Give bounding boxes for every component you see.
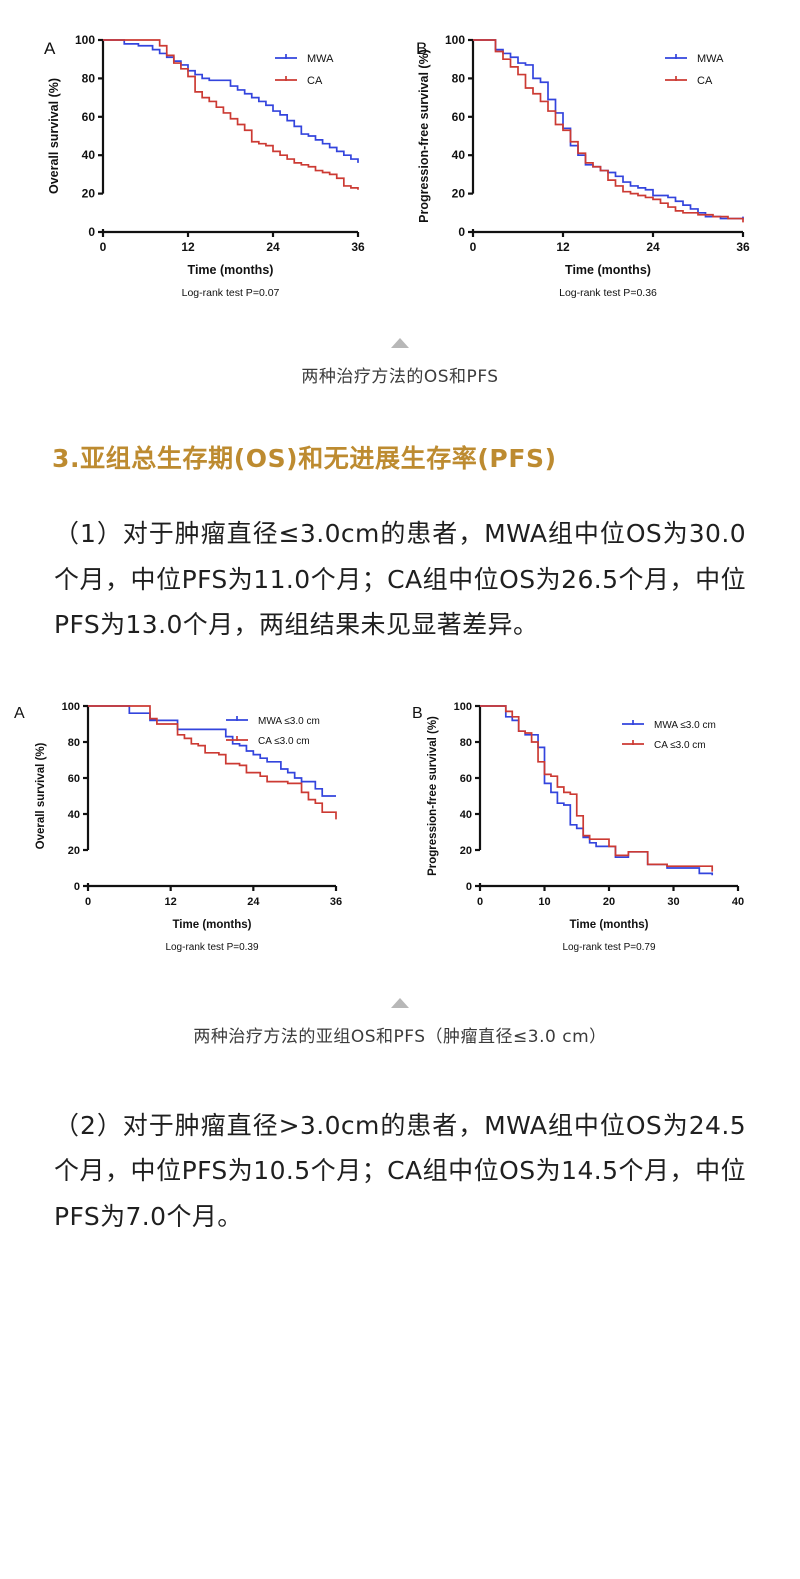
svg-text:40: 40	[460, 809, 472, 821]
figure-1-caption-wrap: 两种治疗方法的OS和PFS	[0, 338, 800, 387]
svg-text:100: 100	[62, 701, 80, 713]
figure-2-panels: A0204060801000122436Overall survival (%)…	[0, 688, 800, 968]
svg-text:20: 20	[68, 845, 80, 857]
paragraph-2: （2）对于肿瘤直径>3.0cm的患者，MWA组中位OS为24.5个月，中位PFS…	[54, 1103, 746, 1240]
figure-1-panels: A0204060801000122436Overall survival (%)…	[0, 18, 800, 308]
svg-text:Overall survival (%): Overall survival (%)	[47, 78, 61, 194]
svg-text:40: 40	[68, 809, 80, 821]
svg-text:80: 80	[82, 71, 96, 85]
svg-text:80: 80	[460, 737, 472, 749]
km-plot-fig1-b: B0204060801000122436Progression-free sur…	[400, 18, 800, 308]
figure-2-caption: 两种治疗方法的亚组OS和PFS（肿瘤直径≤3.0 cm）	[0, 1022, 800, 1047]
svg-text:12: 12	[181, 240, 195, 254]
svg-text:0: 0	[466, 881, 472, 893]
svg-text:30: 30	[667, 896, 679, 908]
svg-text:Log-rank test P=0.07: Log-rank test P=0.07	[182, 287, 280, 299]
svg-text:Time (months): Time (months)	[569, 919, 648, 931]
svg-text:20: 20	[452, 187, 466, 201]
svg-text:36: 36	[736, 240, 750, 254]
svg-text:A: A	[44, 39, 56, 58]
svg-text:60: 60	[452, 110, 466, 124]
svg-text:MWA ≤3.0 cm: MWA ≤3.0 cm	[258, 716, 320, 727]
svg-text:24: 24	[646, 240, 660, 254]
svg-text:Time (months): Time (months)	[188, 263, 274, 277]
figure-2: A0204060801000122436Overall survival (%)…	[0, 688, 800, 1047]
svg-text:0: 0	[74, 881, 80, 893]
svg-text:Overall survival (%): Overall survival (%)	[35, 742, 47, 849]
svg-text:24: 24	[266, 240, 280, 254]
svg-text:Log-rank test P=0.36: Log-rank test P=0.36	[559, 287, 657, 299]
svg-text:60: 60	[460, 773, 472, 785]
figure-1-panel-a: A0204060801000122436Overall survival (%)…	[0, 18, 400, 308]
svg-text:40: 40	[82, 148, 96, 162]
svg-text:80: 80	[452, 71, 466, 85]
svg-text:B: B	[412, 705, 423, 722]
article-page: A0204060801000122436Overall survival (%)…	[0, 0, 800, 1579]
km-plot-fig2-b: B020406080100010203040Progression-free s…	[400, 688, 800, 968]
svg-text:12: 12	[165, 896, 177, 908]
svg-text:20: 20	[603, 896, 615, 908]
svg-text:A: A	[14, 705, 25, 722]
svg-text:100: 100	[445, 33, 465, 47]
figure-1: A0204060801000122436Overall survival (%)…	[0, 18, 800, 387]
figure-2-panel-b: B020406080100010203040Progression-free s…	[400, 688, 800, 968]
triangle-marker-icon	[391, 998, 409, 1008]
svg-text:CA ≤3.0 cm: CA ≤3.0 cm	[258, 736, 310, 747]
svg-text:MWA: MWA	[307, 53, 334, 65]
svg-text:Log-rank test P=0.39: Log-rank test P=0.39	[165, 942, 259, 953]
svg-text:Progression-free survival (%): Progression-free survival (%)	[417, 49, 431, 223]
svg-text:0: 0	[88, 225, 95, 239]
svg-text:24: 24	[247, 896, 260, 908]
svg-text:12: 12	[556, 240, 570, 254]
km-plot-fig1-a: A0204060801000122436Overall survival (%)…	[0, 18, 400, 308]
svg-text:0: 0	[100, 240, 107, 254]
svg-text:CA: CA	[697, 75, 713, 87]
svg-text:60: 60	[68, 773, 80, 785]
svg-text:0: 0	[85, 896, 91, 908]
svg-text:Time (months): Time (months)	[565, 263, 651, 277]
svg-text:36: 36	[330, 896, 342, 908]
svg-text:20: 20	[82, 187, 96, 201]
figure-1-caption: 两种治疗方法的OS和PFS	[0, 362, 800, 387]
svg-text:Progression-free survival (%): Progression-free survival (%)	[427, 715, 439, 875]
svg-text:10: 10	[538, 896, 550, 908]
svg-text:20: 20	[460, 845, 472, 857]
svg-text:Time (months): Time (months)	[172, 919, 251, 931]
figure-2-panel-a: A0204060801000122436Overall survival (%)…	[0, 688, 400, 968]
svg-text:36: 36	[351, 240, 365, 254]
figure-2-caption-wrap: 两种治疗方法的亚组OS和PFS（肿瘤直径≤3.0 cm）	[0, 998, 800, 1047]
svg-text:CA: CA	[307, 75, 323, 87]
paragraph-1: （1）对于肿瘤直径≤3.0cm的患者，MWA组中位OS为30.0个月，中位PFS…	[54, 511, 746, 648]
svg-text:0: 0	[458, 225, 465, 239]
svg-text:0: 0	[470, 240, 477, 254]
svg-text:100: 100	[454, 701, 472, 713]
section-heading-3: 3.亚组总生存期(OS)和无进展生存率(PFS)	[52, 439, 800, 475]
svg-text:MWA: MWA	[697, 53, 724, 65]
svg-text:60: 60	[82, 110, 96, 124]
svg-text:100: 100	[75, 33, 95, 47]
triangle-marker-icon	[391, 338, 409, 348]
km-plot-fig2-a: A0204060801000122436Overall survival (%)…	[0, 688, 400, 968]
svg-text:0: 0	[477, 896, 483, 908]
svg-text:40: 40	[732, 896, 744, 908]
svg-text:MWA ≤3.0 cm: MWA ≤3.0 cm	[654, 720, 716, 731]
svg-text:80: 80	[68, 737, 80, 749]
svg-text:40: 40	[452, 148, 466, 162]
svg-text:CA ≤3.0 cm: CA ≤3.0 cm	[654, 740, 706, 751]
figure-1-panel-b: B0204060801000122436Progression-free sur…	[400, 18, 800, 308]
svg-text:Log-rank test P=0.79: Log-rank test P=0.79	[562, 942, 656, 953]
